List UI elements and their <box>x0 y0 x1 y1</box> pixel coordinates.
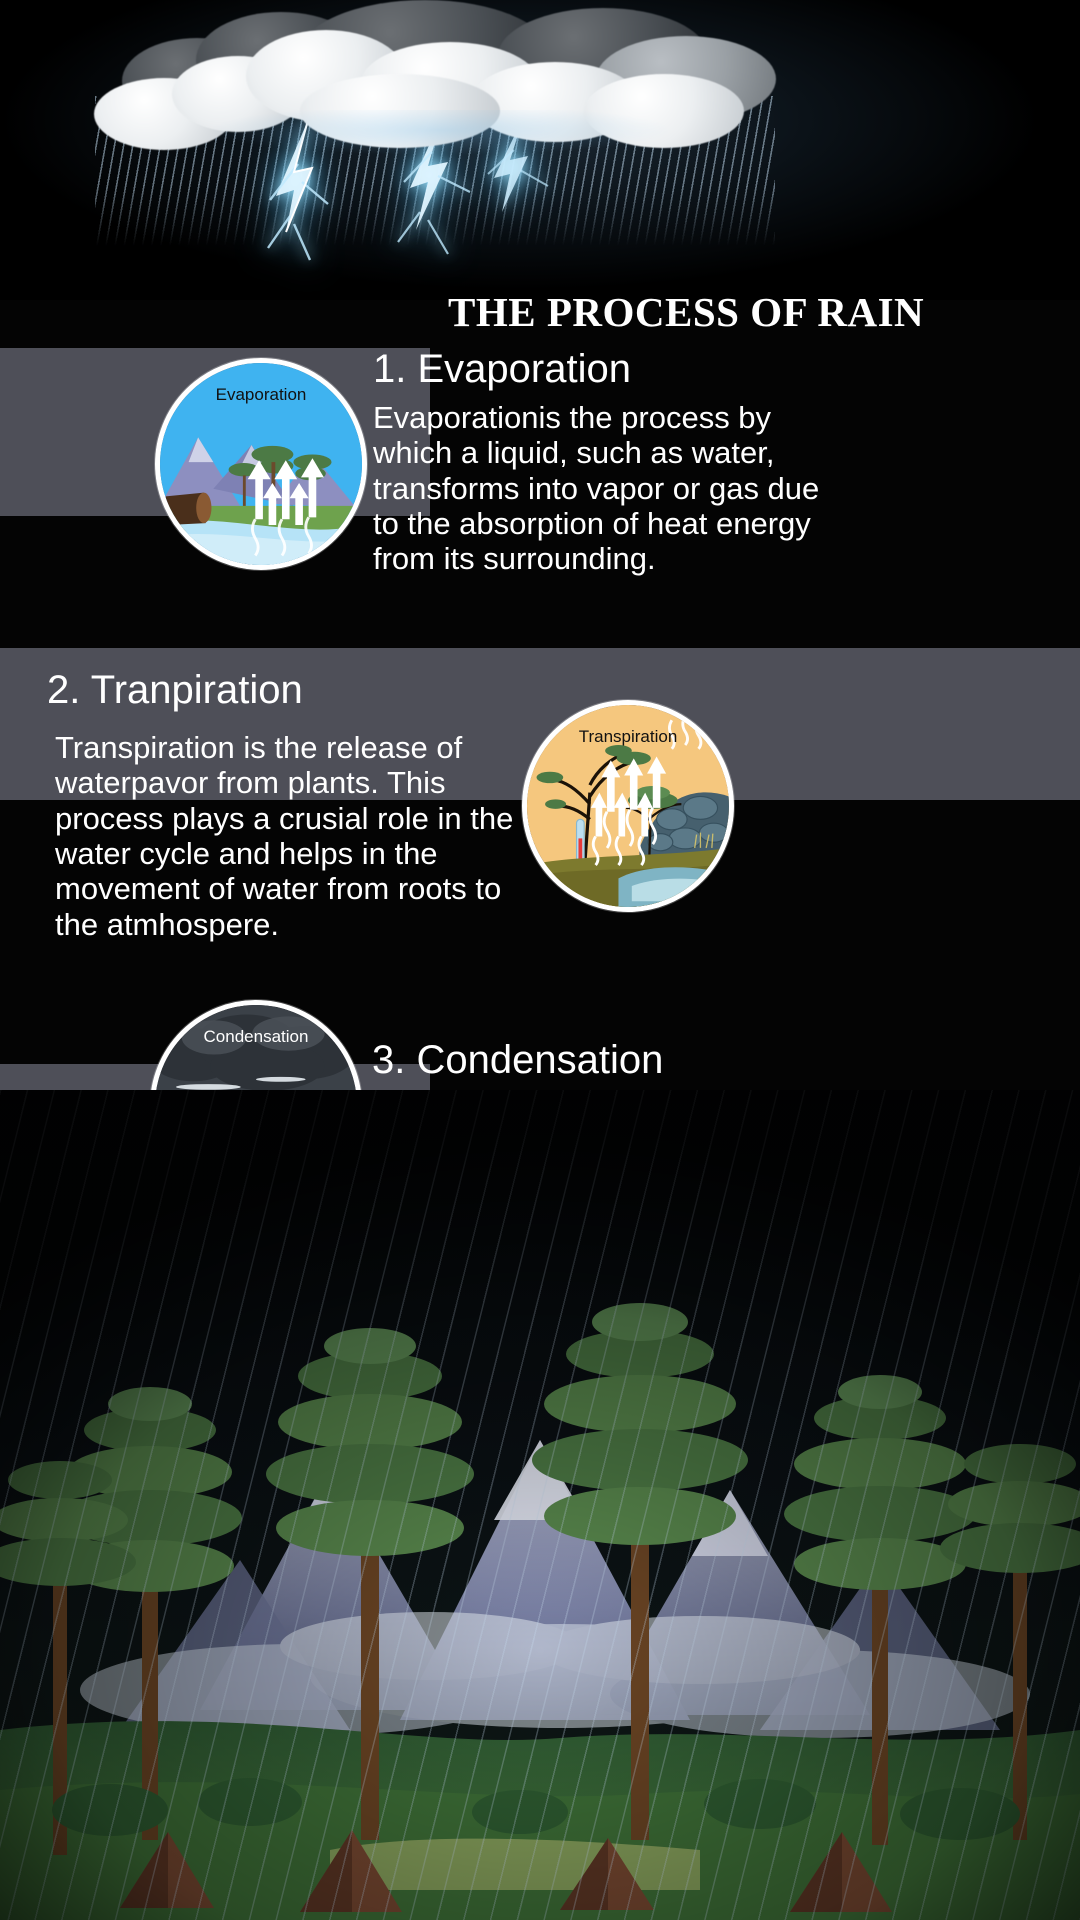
step-1-body: Evaporationis the process by which a liq… <box>373 400 843 577</box>
evaporation-caption: Evaporation <box>160 385 362 405</box>
condensation-caption: Condensation <box>155 1027 357 1047</box>
infographic-poster: THE PROCESS OF RAIN <box>0 0 1080 1920</box>
storm-scene <box>0 0 1080 300</box>
transpiration-illustration: Transpiration <box>522 700 734 912</box>
evaporation-illustration: Evaporation <box>155 358 367 570</box>
cloud-underglow <box>110 110 770 180</box>
step-1-heading: 1. Evaporation <box>373 347 631 392</box>
step-3-heading: 3. Condensation <box>372 1038 663 1083</box>
step-2-heading: 2. Tranpiration <box>47 668 303 713</box>
page-title: THE PROCESS OF RAIN <box>448 288 924 336</box>
step-2-body: Transpiration is the release of waterpav… <box>55 730 525 942</box>
forest-scene <box>0 1090 1080 1920</box>
transpiration-caption: Transpiration <box>527 727 729 747</box>
forest-artwork <box>0 1090 1080 1920</box>
